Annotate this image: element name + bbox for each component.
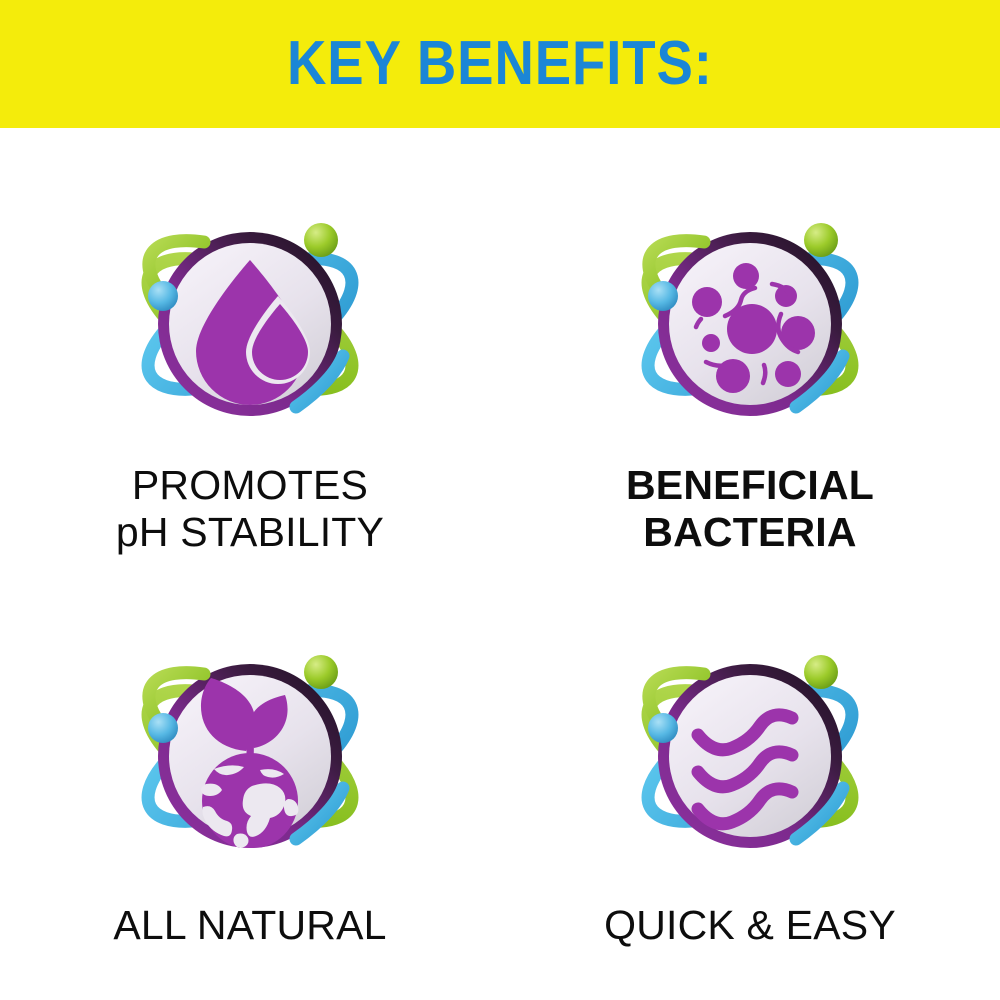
key-benefits-panel: KEY BENEFITS: xyxy=(0,0,1000,1000)
header-banner: KEY BENEFITS: xyxy=(0,0,1000,128)
benefits-grid: PROMOTES pH STABILITY xyxy=(0,128,1000,1000)
benefit-label: ALL NATURAL xyxy=(113,902,386,949)
benefit-card-beneficial-bacteria: BENEFICIAL BACTERIA xyxy=(500,128,1000,564)
globe-sprout-icon xyxy=(100,636,400,876)
benefit-label: QUICK & EASY xyxy=(604,902,896,949)
water-drop-icon xyxy=(100,204,400,444)
benefit-label: PROMOTES pH STABILITY xyxy=(116,462,384,555)
benefit-label: BENEFICIAL BACTERIA xyxy=(626,462,874,555)
benefit-card-ph-stability: PROMOTES pH STABILITY xyxy=(0,128,500,564)
benefit-card-quick-and-easy: QUICK & EASY xyxy=(500,564,1000,1000)
bacteria-icon xyxy=(600,204,900,444)
benefit-card-all-natural: ALL NATURAL xyxy=(0,564,500,1000)
waves-icon xyxy=(600,636,900,876)
page-title: KEY BENEFITS: xyxy=(287,33,713,95)
